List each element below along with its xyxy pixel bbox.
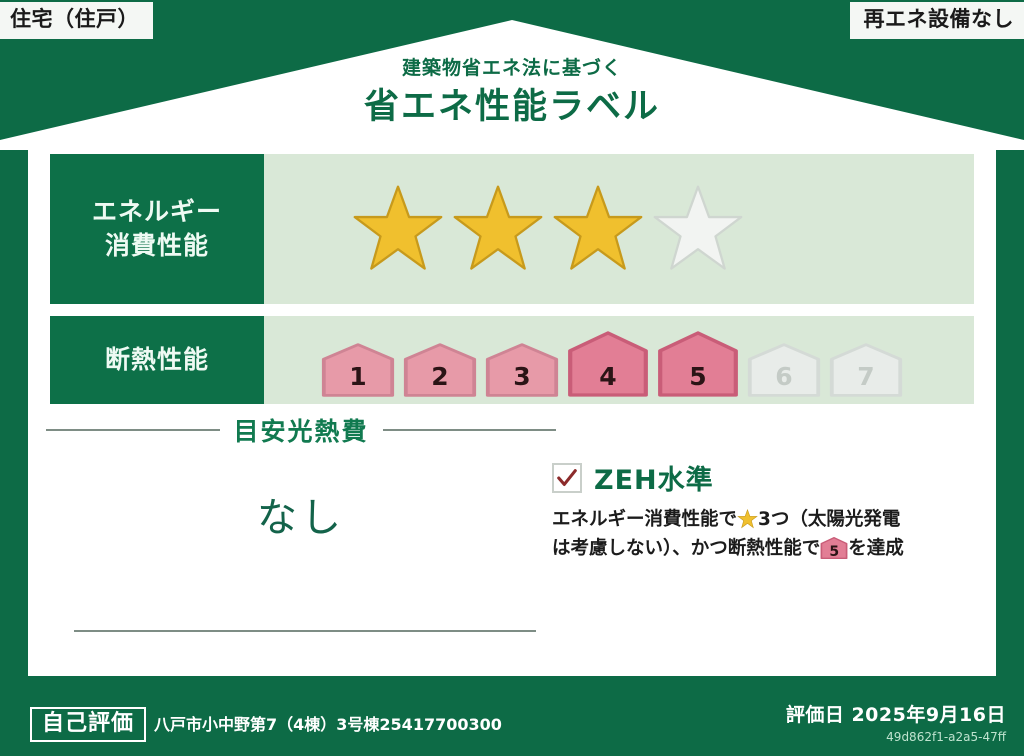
label-body-panel: エネルギー 消費性能 断熱性能 1234567 目安光熱費 — [28, 140, 996, 676]
rating-rows: エネルギー 消費性能 断熱性能 1234567 — [50, 154, 974, 416]
renewable-energy-tag: 再エネ設備なし — [850, 2, 1024, 39]
insulation-grade-number: 5 — [656, 362, 740, 391]
insulation-grade-number: 4 — [566, 362, 650, 391]
utility-cost-title: 目安光熱費 — [234, 412, 369, 448]
title-subtitle: 建築物省エネ法に基づく — [0, 57, 1024, 80]
zeh-desc-part1: エネルギー消費性能で — [552, 509, 737, 530]
insulation-grade-number: 2 — [402, 362, 478, 391]
insulation-grade-badge: 6 — [746, 343, 822, 397]
heading-rule-right — [383, 429, 557, 431]
building-type-tag: 住宅（住戸） — [0, 2, 153, 39]
insulation-grade-number: 7 — [828, 362, 904, 391]
footer-left-group: 自己評価 八戸市小中野第7（4棟）3号棟25417700300 — [30, 707, 502, 742]
insulation-grade-badge: 3 — [484, 343, 560, 397]
heading-rule-left — [46, 429, 220, 431]
energy-label-line1: エネルギー — [92, 195, 222, 229]
star-icon — [550, 183, 646, 275]
self-evaluation-tag: 自己評価 — [30, 707, 146, 742]
insulation-grade-scale: 1234567 — [320, 331, 904, 404]
utility-cost-value: なし — [46, 485, 556, 543]
insulation-grade-badge: 5 — [656, 331, 740, 397]
star-rating — [350, 183, 746, 275]
evaluation-id: 49d862f1-a2a5-47ff — [786, 730, 1006, 744]
star-icon — [350, 183, 446, 275]
zeh-desc-part4: を達成 — [848, 538, 904, 559]
star-icon — [737, 509, 758, 529]
checkmark-icon — [556, 467, 578, 489]
evaluation-date: 評価日 2025年9月16日 — [786, 700, 1006, 727]
label-footer: 自己評価 八戸市小中野第7（4棟）3号棟25417700300 評価日 2025… — [0, 676, 1024, 756]
zeh-desc-part3: は考慮しない）、かつ断熱性能で — [552, 538, 820, 559]
star-icon — [450, 183, 546, 275]
zeh-heading: ZEH水準 — [552, 458, 972, 497]
insulation-grade-number: 1 — [320, 362, 396, 391]
energy-performance-value — [264, 154, 974, 304]
insulation-performance-row: 断熱性能 1234567 — [50, 316, 974, 404]
insulation-grade-number: 6 — [746, 362, 822, 391]
zeh-standard-block: ZEH水準 エネルギー消費性能で3つ（太陽光発電は考慮しない）、かつ断熱性能で5… — [552, 458, 972, 563]
house-grade-icon: 5 — [820, 537, 848, 559]
utility-cost-heading: 目安光熱費 — [46, 412, 556, 448]
insulation-grade-badge: 1 — [320, 343, 396, 397]
energy-label-line2: 消費性能 — [105, 229, 209, 263]
title-main: 省エネ性能ラベル — [0, 86, 1024, 128]
insulation-performance-value: 1234567 — [264, 316, 974, 404]
property-address: 八戸市小中野第7（4棟）3号棟25417700300 — [154, 711, 502, 735]
insulation-label-text: 断熱性能 — [105, 343, 209, 377]
zeh-checkbox — [552, 463, 582, 493]
energy-performance-row: エネルギー 消費性能 — [50, 154, 974, 304]
insulation-grade-badge: 7 — [828, 343, 904, 397]
energy-performance-label: 住宅（住戸） 再エネ設備なし 建築物省エネ法に基づく 省エネ性能ラベル エネルギ… — [0, 0, 1024, 756]
insulation-grade-number: 3 — [484, 362, 560, 391]
footer-right-group: 評価日 2025年9月16日 49d862f1-a2a5-47ff — [786, 700, 1006, 744]
zeh-desc-part2: 3つ（太陽光発電 — [758, 509, 900, 530]
utility-cost-bottom-rule — [74, 630, 536, 632]
zeh-title: ZEH水準 — [594, 458, 714, 497]
zeh-description: エネルギー消費性能で3つ（太陽光発電は考慮しない）、かつ断熱性能で5を達成 — [552, 506, 972, 563]
star-icon — [650, 183, 746, 275]
insulation-grade-badge: 2 — [402, 343, 478, 397]
label-title: 建築物省エネ法に基づく 省エネ性能ラベル — [0, 57, 1024, 128]
insulation-grade-badge: 4 — [566, 331, 650, 397]
insulation-performance-label: 断熱性能 — [50, 316, 264, 404]
energy-performance-label: エネルギー 消費性能 — [50, 154, 264, 304]
